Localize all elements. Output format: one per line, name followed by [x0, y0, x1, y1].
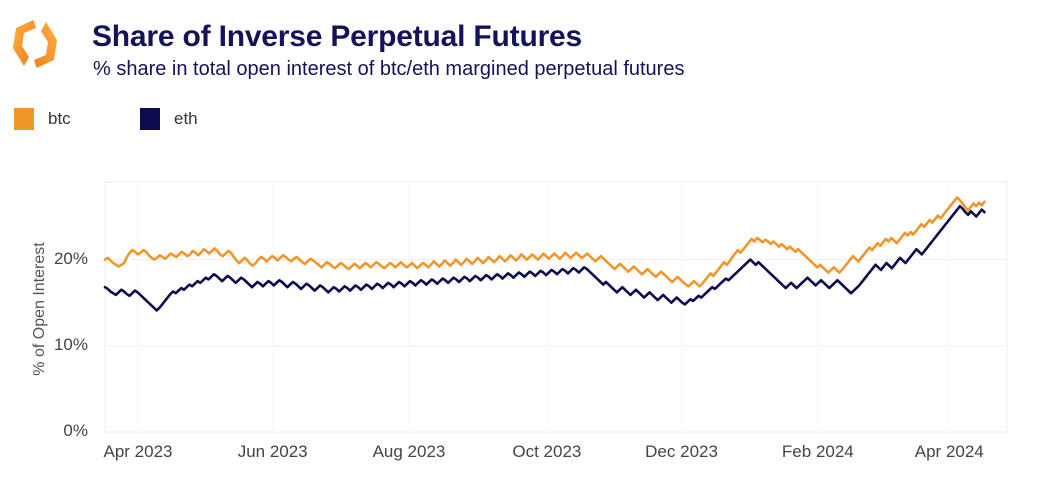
line-chart-canvas [0, 150, 1037, 491]
chart-header: Share of Inverse Perpetual Futures % sha… [0, 0, 1037, 100]
legend-label-eth: eth [174, 109, 198, 129]
legend-item-eth[interactable]: eth [140, 108, 198, 130]
legend-label-btc: btc [48, 109, 71, 129]
legend-item-btc[interactable]: btc [14, 108, 71, 130]
legend-swatch-btc [14, 108, 34, 130]
page-title: Share of Inverse Perpetual Futures [92, 20, 582, 54]
chart-plot-area: % of Open Interest 0%10%20% Apr 2023Jun … [0, 150, 1037, 491]
page-subtitle: % share in total open interest of btc/et… [93, 58, 684, 81]
legend-swatch-eth [140, 108, 160, 130]
bybit-hexagon-logo [10, 18, 60, 70]
